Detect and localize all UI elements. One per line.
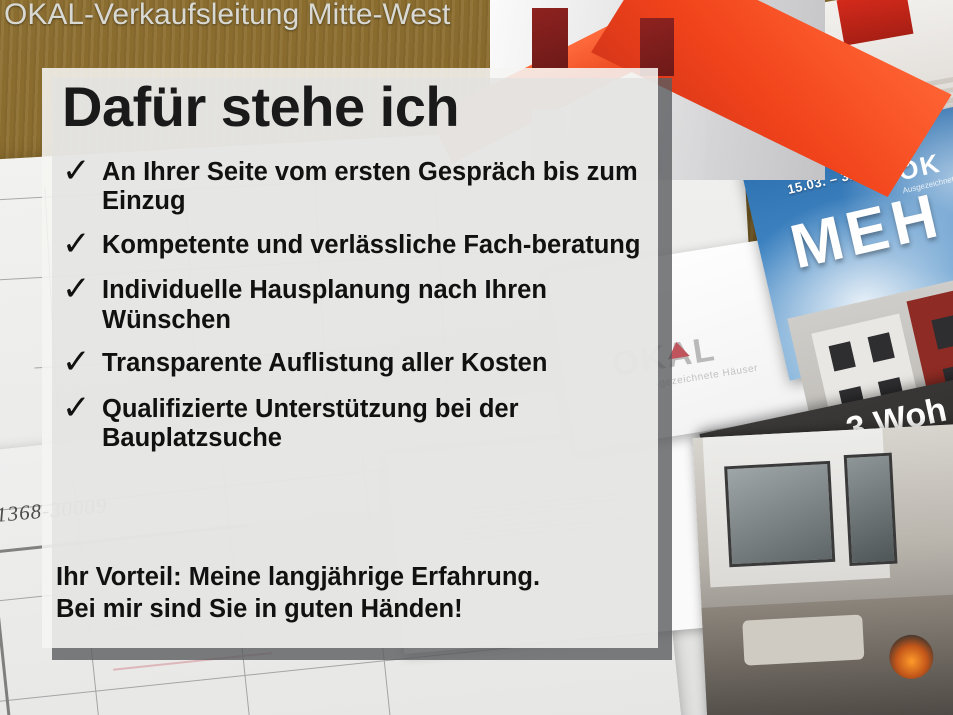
list-item-label: Individuelle Hausplanung nach Ihren Wüns… bbox=[102, 276, 656, 335]
list-item: ✓ Kompetente und verlässliche Fach-berat… bbox=[56, 231, 656, 263]
check-icon: ✓ bbox=[62, 154, 102, 190]
list-item-label: An Ihrer Seite vom ersten Gespräch bis z… bbox=[102, 158, 656, 217]
list-item: ✓ An Ihrer Seite vom ersten Gespräch bis… bbox=[56, 158, 656, 217]
closing-line-2: Bei mir sind Sie in guten Händen! bbox=[56, 593, 656, 626]
list-item: ✓ Qualifizierte Unterstützung bei der Ba… bbox=[56, 395, 656, 454]
closing-statement: Ihr Vorteil: Meine langjährige Erfahrung… bbox=[56, 561, 656, 626]
page-title: OKAL-Verkaufsleitung Mitte-West bbox=[4, 0, 450, 32]
claims-panel: Dafür stehe ich ✓ An Ihrer Seite vom ers… bbox=[42, 68, 658, 648]
check-icon: ✓ bbox=[62, 345, 102, 381]
claims-list: ✓ An Ihrer Seite vom ersten Gespräch bis… bbox=[56, 158, 656, 467]
terrace-living-photo bbox=[693, 422, 953, 715]
check-icon: ✓ bbox=[62, 272, 102, 308]
check-icon: ✓ bbox=[62, 227, 102, 263]
list-item-label: Transparente Auflistung aller Kosten bbox=[102, 349, 656, 378]
list-item-label: Qualifizierte Unterstützung bei der Baup… bbox=[102, 395, 656, 454]
list-item: ✓ Transparente Auflistung aller Kosten bbox=[56, 349, 656, 381]
poster-screenshot: 1368-30009 OKAL Ausgezeichnete Häuser 15… bbox=[0, 0, 953, 715]
list-item-label: Kompetente und verlässliche Fach-beratun… bbox=[102, 231, 656, 260]
list-item: ✓ Individuelle Hausplanung nach Ihren Wü… bbox=[56, 276, 656, 335]
check-icon: ✓ bbox=[62, 391, 102, 427]
panel-heading: Dafür stehe ich bbox=[62, 74, 459, 139]
closing-line-1: Ihr Vorteil: Meine langjährige Erfahrung… bbox=[56, 561, 656, 594]
